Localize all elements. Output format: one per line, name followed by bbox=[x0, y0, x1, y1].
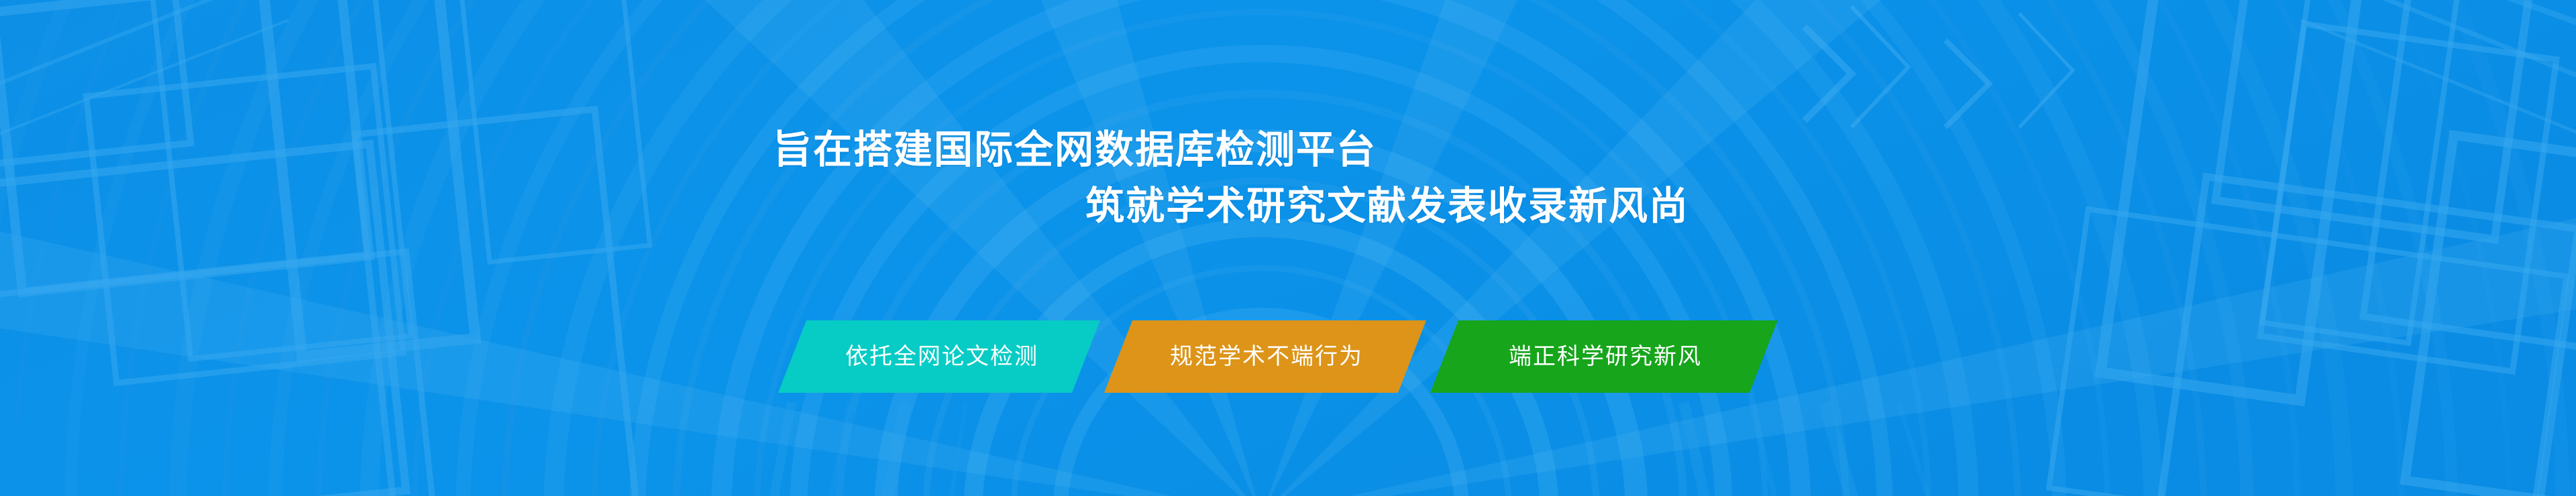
headline-block: 旨在搭建国际全网数据库检测平台 筑就学术研究文献发表收录新风尚 bbox=[0, 127, 2576, 229]
feature-tag-strip: 依托全网论文检测 规范学术不端行为 端正科学研究新风 bbox=[778, 320, 1778, 393]
feature-tag-3-label: 端正科学研究新风 bbox=[1509, 320, 1702, 393]
headline-line-1: 旨在搭建国际全网数据库检测平台 bbox=[773, 127, 2576, 173]
promo-banner: 旨在搭建国际全网数据库检测平台 筑就学术研究文献发表收录新风尚 依托全网论文检测… bbox=[0, 0, 2576, 496]
banner-content: 旨在搭建国际全网数据库检测平台 筑就学术研究文献发表收录新风尚 依托全网论文检测… bbox=[0, 0, 2576, 496]
feature-tag-1-label: 依托全网论文检测 bbox=[845, 320, 1038, 393]
headline-line-2: 筑就学术研究文献发表收录新风尚 bbox=[1085, 184, 2576, 229]
feature-tag-3[interactable]: 端正科学研究新风 bbox=[1430, 320, 1778, 393]
feature-tag-1[interactable]: 依托全网论文检测 bbox=[778, 320, 1100, 393]
feature-tag-2-label: 规范学术不端行为 bbox=[1170, 320, 1363, 393]
feature-tag-2[interactable]: 规范学术不端行为 bbox=[1104, 320, 1426, 393]
